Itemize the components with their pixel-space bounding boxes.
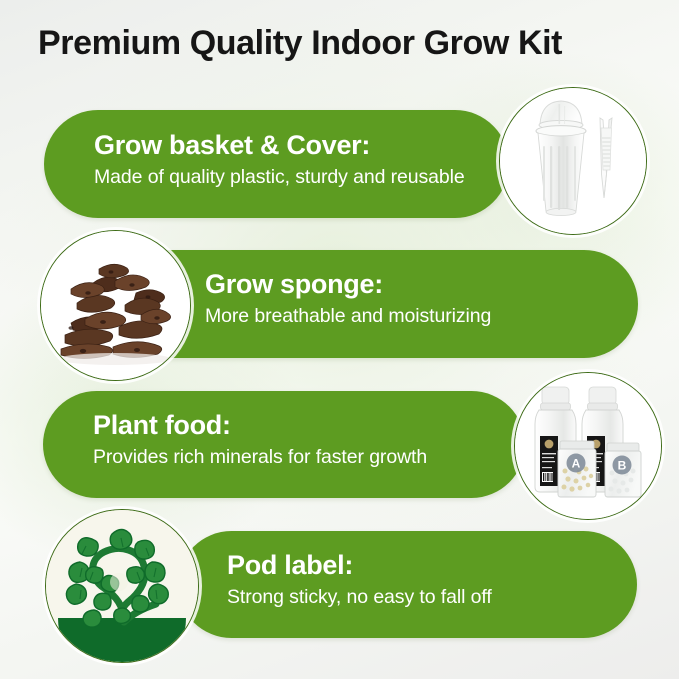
feature-description: Made of quality plastic, sturdy and reus… (94, 166, 465, 188)
feature-text-plant-food: Plant food: Provides rich minerals for f… (93, 411, 427, 468)
grow-basket-and-tweezers-photo (499, 87, 647, 235)
grow-basket-and-tweezers-illustration (500, 88, 646, 234)
feature-heading: Grow basket & Cover: (94, 131, 465, 161)
product-feature-infographic: Premium Quality Indoor Grow Kit Grow bas… (0, 0, 679, 679)
plant-food-bottles-photo: A B (514, 372, 662, 520)
feature-heading: Grow sponge: (205, 270, 491, 300)
feature-text-pod-label: Pod label: Strong sticky, no easy to fal… (227, 551, 492, 608)
feature-description: Provides rich minerals for faster growth (93, 446, 427, 468)
feature-description: Strong sticky, no easy to fall off (227, 586, 492, 608)
feature-text-grow-basket-cover: Grow basket & Cover: Made of quality pla… (94, 131, 465, 188)
grow-sponge-illustration (41, 231, 190, 380)
feature-description: More breathable and moisturizing (205, 305, 491, 327)
feature-heading: Plant food: (93, 411, 427, 441)
packet-label-b: B (618, 459, 627, 473)
pod-label-logo (45, 509, 199, 663)
plant-food-illustration: A B (515, 373, 661, 519)
pod-label-vine-emblem (46, 510, 198, 662)
page-title: Premium Quality Indoor Grow Kit (38, 24, 562, 63)
feature-heading: Pod label: (227, 551, 492, 581)
feature-text-grow-sponge: Grow sponge: More breathable and moistur… (205, 270, 491, 327)
grow-sponge-photo (40, 230, 191, 381)
packet-label-a: A (572, 457, 581, 471)
